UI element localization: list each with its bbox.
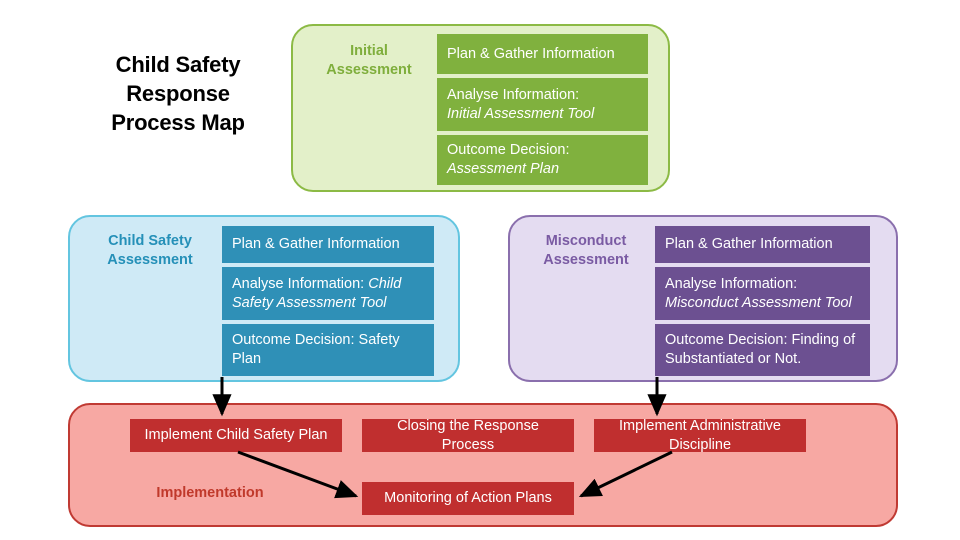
step-monitoring-of-action-plans[interactable]: Monitoring of Action Plans: [362, 482, 574, 515]
step-misconduct-outcome-decision[interactable]: Outcome Decision: Finding of Substantiat…: [655, 324, 870, 376]
step-text-italic: Initial Assessment Tool: [447, 106, 594, 122]
panel-label-misconduct-assessment-line-2: Assessment: [522, 251, 650, 270]
step-text: Plan & Gather Information: [665, 235, 833, 254]
step-initial-outcome-decision[interactable]: Outcome Decision: Assessment Plan: [437, 135, 648, 185]
panel-label-child-safety-assessment-line-2: Assessment: [84, 251, 216, 270]
step-text: Implement Administrative Discipline: [604, 417, 796, 454]
step-text: Closing the Response Process: [372, 417, 564, 454]
step-text: Outcome Decision: Safety Plan: [232, 331, 424, 368]
panel-label-misconduct-assessment-line-1: Misconduct: [522, 232, 650, 251]
panel-label-child-safety-assessment-line-1: Child Safety: [84, 232, 216, 251]
step-text-italic: Assessment Plan: [447, 161, 559, 177]
step-text: Analyse Information:: [447, 87, 579, 103]
step-initial-plan-gather-information[interactable]: Plan & Gather Information: [437, 34, 648, 74]
panel-label-initial-assessment-line-1: Initial: [305, 42, 433, 61]
step-text: Plan & Gather Information: [232, 235, 400, 254]
step-child-safety-analyse-information[interactable]: Analyse Information: Child Safety Assess…: [222, 267, 434, 320]
step-text: Monitoring of Action Plans: [384, 489, 552, 508]
step-implement-administrative-discipline[interactable]: Implement Administrative Discipline: [594, 419, 806, 452]
diagram-title: Child Safety Response Process Map: [64, 50, 292, 137]
panel-label-child-safety-assessment: Child Safety Assessment: [84, 232, 216, 269]
step-text: Outcome Decision:: [447, 142, 570, 158]
panel-label-initial-assessment: Initial Assessment: [305, 42, 433, 79]
step-text: Outcome Decision: Finding of Substantiat…: [665, 331, 860, 368]
diagram-title-line-3: Process Map: [64, 108, 292, 137]
step-initial-analyse-information[interactable]: Analyse Information: Initial Assessment …: [437, 78, 648, 131]
panel-label-initial-assessment-line-2: Assessment: [305, 61, 433, 80]
diagram-title-line-1: Child Safety: [64, 50, 292, 79]
panel-label-misconduct-assessment: Misconduct Assessment: [522, 232, 650, 269]
panel-label-implementation-text: Implementation: [130, 484, 290, 503]
step-misconduct-plan-gather-information[interactable]: Plan & Gather Information: [655, 226, 870, 263]
step-closing-the-response-process[interactable]: Closing the Response Process: [362, 419, 574, 452]
diagram-title-line-2: Response: [64, 79, 292, 108]
step-text: Implement Child Safety Plan: [145, 426, 328, 445]
step-misconduct-analyse-information[interactable]: Analyse Information: Misconduct Assessme…: [655, 267, 870, 320]
panel-label-implementation: Implementation: [130, 484, 290, 503]
process-map-diagram: Child Safety Response Process Map Initia…: [0, 0, 960, 540]
step-implement-child-safety-plan[interactable]: Implement Child Safety Plan: [130, 419, 342, 452]
step-text: Plan & Gather Information: [447, 45, 615, 64]
step-child-safety-outcome-decision[interactable]: Outcome Decision: Safety Plan: [222, 324, 434, 376]
step-text-italic: Misconduct Assessment Tool: [665, 295, 852, 311]
step-text: Analyse Information:: [665, 276, 797, 292]
step-text: Analyse Information:: [232, 276, 368, 292]
step-child-safety-plan-gather-information[interactable]: Plan & Gather Information: [222, 226, 434, 263]
